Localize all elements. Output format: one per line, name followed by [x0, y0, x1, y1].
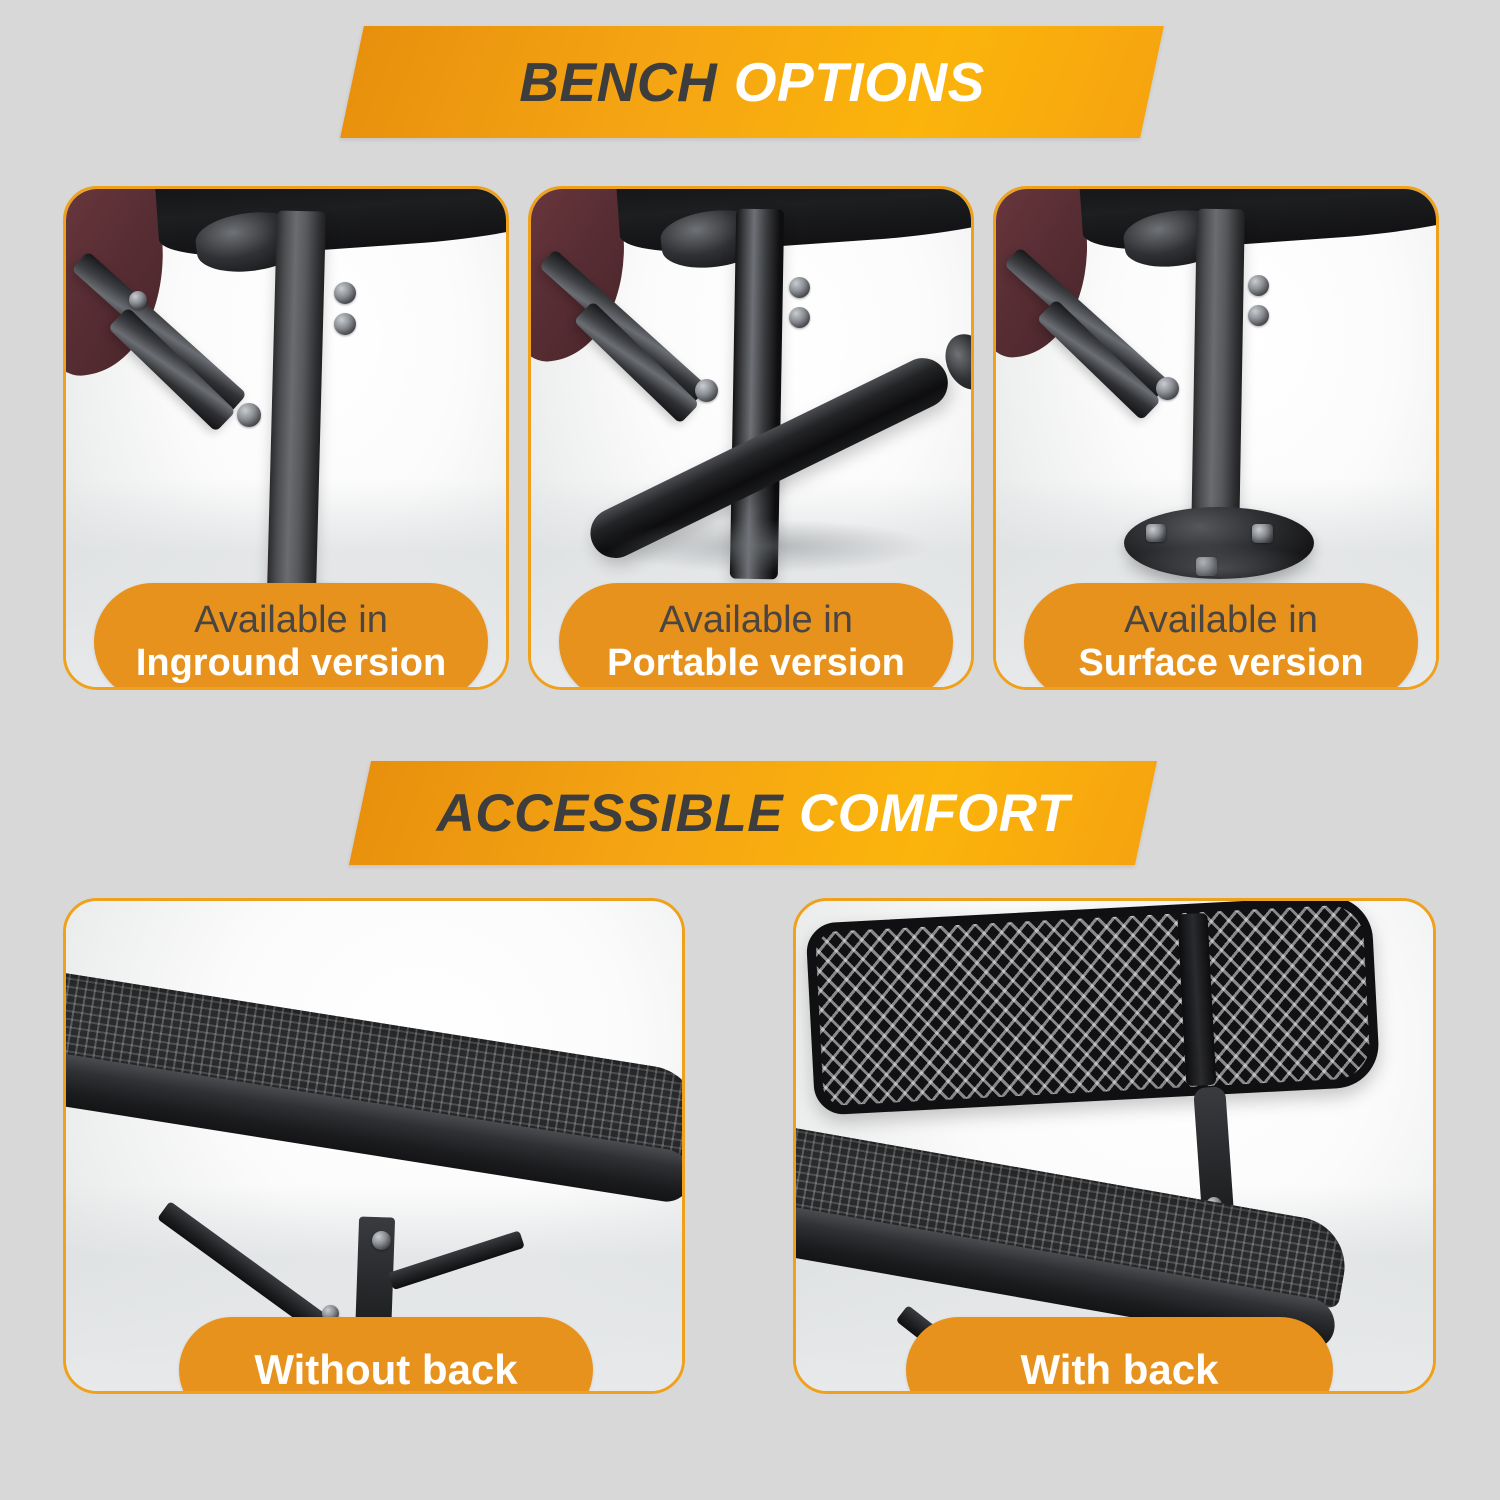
card-inground[interactable]: Available in Inground version [63, 186, 509, 690]
pill-line-2: With back [1021, 1346, 1219, 1393]
bolt-lower [789, 307, 810, 328]
banner-text-light-2: COMFORT [799, 783, 1069, 844]
pill-line-1: Available in [659, 599, 853, 642]
bolt-upper [334, 282, 356, 304]
bolt-lower [1248, 305, 1269, 326]
infographic-canvas: BENCH OPTIONS [0, 0, 1500, 1500]
backrest-mesh-surface [805, 901, 1380, 1116]
floor-shadow [601, 519, 931, 573]
card-portable[interactable]: Available in Portable version [528, 186, 974, 690]
bolt-brace-pivot [1156, 377, 1179, 400]
leg-post [267, 210, 326, 593]
pill-surface: Available in Surface version [1024, 583, 1418, 690]
pill-line-1: Available in [1124, 599, 1318, 642]
card-with-back[interactable]: With back [793, 898, 1436, 1394]
bolt-lower [334, 313, 356, 335]
bench-backrest-assembly [805, 901, 1380, 1116]
pill-line-2: Inground version [136, 642, 446, 685]
pill-line-2: Without back [254, 1346, 517, 1393]
pill-line-2: Surface version [1078, 642, 1363, 685]
pill-with-back: With back [906, 1317, 1333, 1394]
pill-line-1: Available in [194, 599, 388, 642]
anchor-bolt-right [1252, 524, 1273, 543]
bolt-upper [789, 277, 810, 298]
bolt-brace-pivot [695, 379, 718, 402]
seat-bracket-bolt [372, 1231, 391, 1250]
bolt-upper [1248, 275, 1269, 296]
banner-text-light-1: OPTIONS [734, 50, 985, 114]
banner-text-dark-2: ACCESSIBLE [437, 783, 784, 844]
bolt-brace-top [129, 291, 147, 309]
bolt-brace-pivot [237, 403, 261, 427]
banner-label-2: ACCESSIBLE COMFORT [360, 761, 1146, 865]
pill-portable: Available in Portable version [559, 583, 953, 690]
banner-accessible-comfort: ACCESSIBLE COMFORT [360, 761, 1146, 865]
banner-label-1: BENCH OPTIONS [352, 26, 1152, 138]
anchor-bolt-left [1146, 524, 1166, 542]
pill-line-2: Portable version [607, 642, 905, 685]
banner-bench-options: BENCH OPTIONS [352, 26, 1152, 138]
banner-text-dark-1: BENCH [519, 50, 717, 114]
card-surface[interactable]: Available in Surface version [993, 186, 1439, 690]
leg-post [1191, 209, 1245, 540]
card-without-back[interactable]: Without back [63, 898, 685, 1394]
pill-inground: Available in Inground version [94, 583, 488, 690]
pill-without-back: Without back [179, 1317, 593, 1394]
